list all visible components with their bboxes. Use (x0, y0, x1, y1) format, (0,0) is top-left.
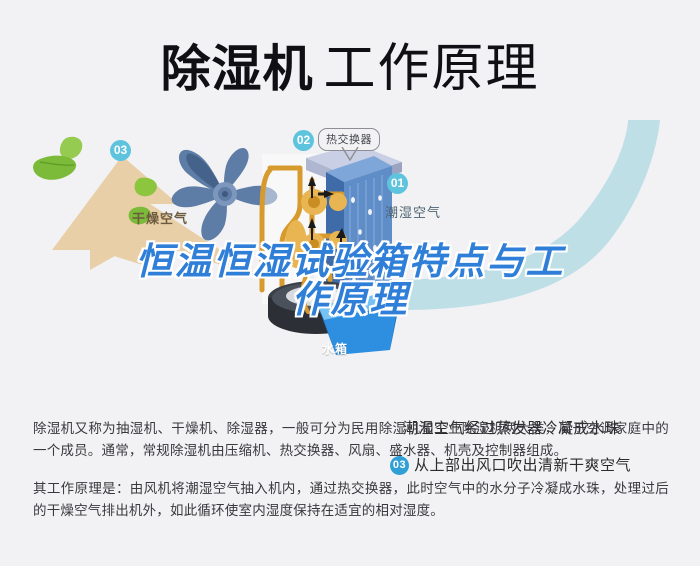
dehumidifier-internals-icon (252, 140, 412, 355)
page-title-light: 工作原理 (323, 40, 539, 98)
body-paragraph-1: 除湿机又称为抽湿机、干燥机、除湿器，一般可分为民用除湿机和工业除湿机两大类，属于… (33, 418, 669, 462)
badge-01-moist-air: 01 (387, 173, 408, 194)
article-body: 除湿机又称为抽湿机、干燥机、除湿器，一般可分为民用除湿机和工业除湿机两大类，属于… (33, 418, 669, 538)
badge-02-heat-exchanger: 02 (293, 130, 314, 151)
page-root: 除湿机工作原理 (0, 0, 700, 566)
dry-air-label: 干燥空气 (132, 208, 188, 227)
dehumidifier-diagram: 03 02 01 热交换器 干燥空气 潮湿空气 水箱 潮湿空气经过蒸发器冷凝成水… (0, 118, 700, 390)
page-title: 除湿机工作原理 (0, 26, 700, 101)
callout-tail-icon (341, 147, 359, 161)
water-tank-label: 水箱 (322, 340, 348, 357)
badge-03-dry-air: 03 (110, 140, 131, 161)
body-paragraph-2: 其工作原理是：由风机将潮湿空气抽入机内，通过热交换器，此时空气中的水分子冷凝成水… (33, 478, 669, 522)
page-title-bold: 除湿机 (160, 41, 313, 97)
moist-air-label: 潮湿空气 (385, 202, 441, 221)
